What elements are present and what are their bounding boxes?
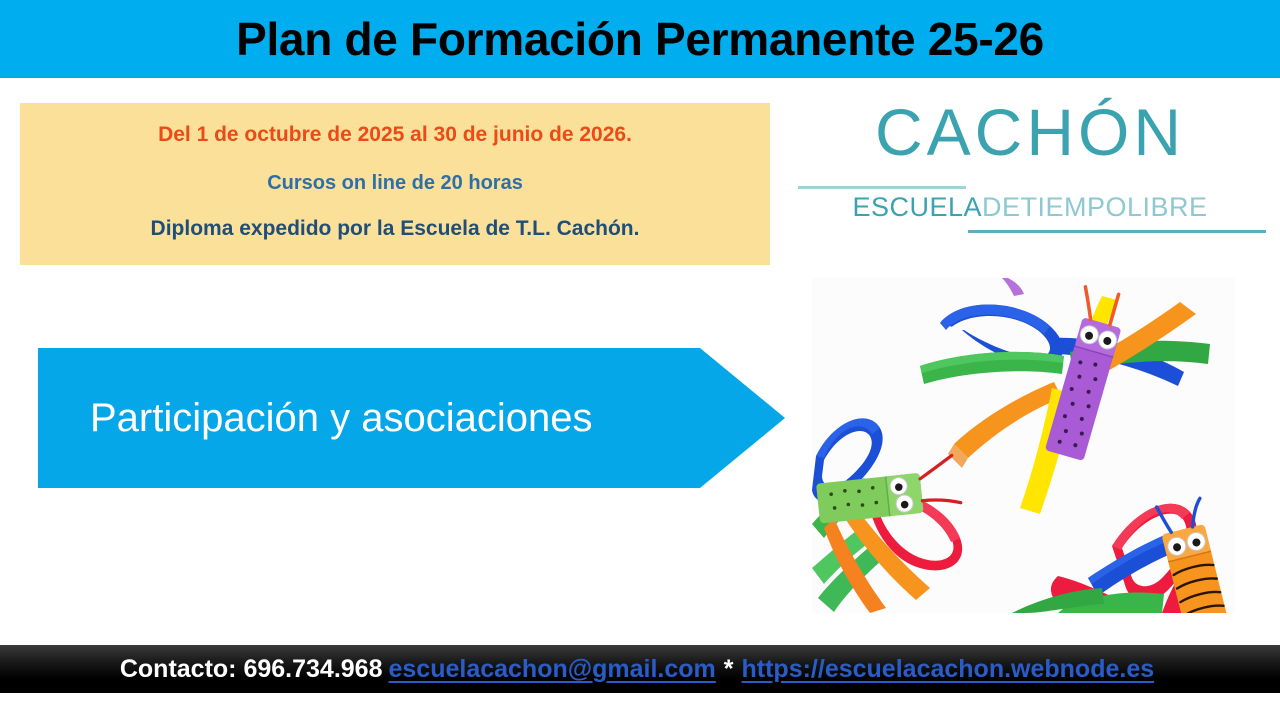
section-banner[interactable]: Participación y asociaciones [38, 348, 785, 488]
footer-email-link[interactable]: escuelacachon@gmail.com [388, 655, 715, 684]
footer-contact-label: Contacto: 696.734.968 [120, 655, 383, 684]
info-line-diploma: Diploma expedido por la Escuela de T.L. … [151, 217, 640, 241]
footer-website-link[interactable]: https://escuelacachon.webnode.es [742, 655, 1155, 684]
logo-rule-top [798, 186, 966, 189]
footer-contact-bar: Contacto: 696.734.968 escuelacachon@gmai… [0, 645, 1280, 693]
logo-wordmark: CACHÓN [790, 94, 1270, 170]
info-line-format: Cursos on line de 20 horas [267, 172, 523, 195]
paper-craft-dragonflies-photo [812, 278, 1235, 613]
logo-subtitle: ESCUELADETIEMPOLIBRE [790, 192, 1270, 223]
logo-rule-bottom [968, 230, 1266, 233]
page-title: Plan de Formación Permanente 25-26 [0, 0, 1280, 78]
footer-separator: * [724, 655, 734, 684]
info-line-dates: Del 1 de octubre de 2025 al 30 de junio … [158, 123, 632, 147]
logo-subtitle-secondary: DETIEMPOLIBRE [982, 192, 1208, 222]
logo-subtitle-primary: ESCUELA [852, 192, 982, 222]
cachon-logo: CACHÓN ESCUELADETIEMPOLIBRE [790, 100, 1270, 240]
course-info-box: Del 1 de octubre de 2025 al 30 de junio … [20, 103, 770, 265]
dragonfly-craft-illustration [812, 278, 1235, 613]
section-banner-label: Participación y asociaciones [38, 348, 700, 488]
